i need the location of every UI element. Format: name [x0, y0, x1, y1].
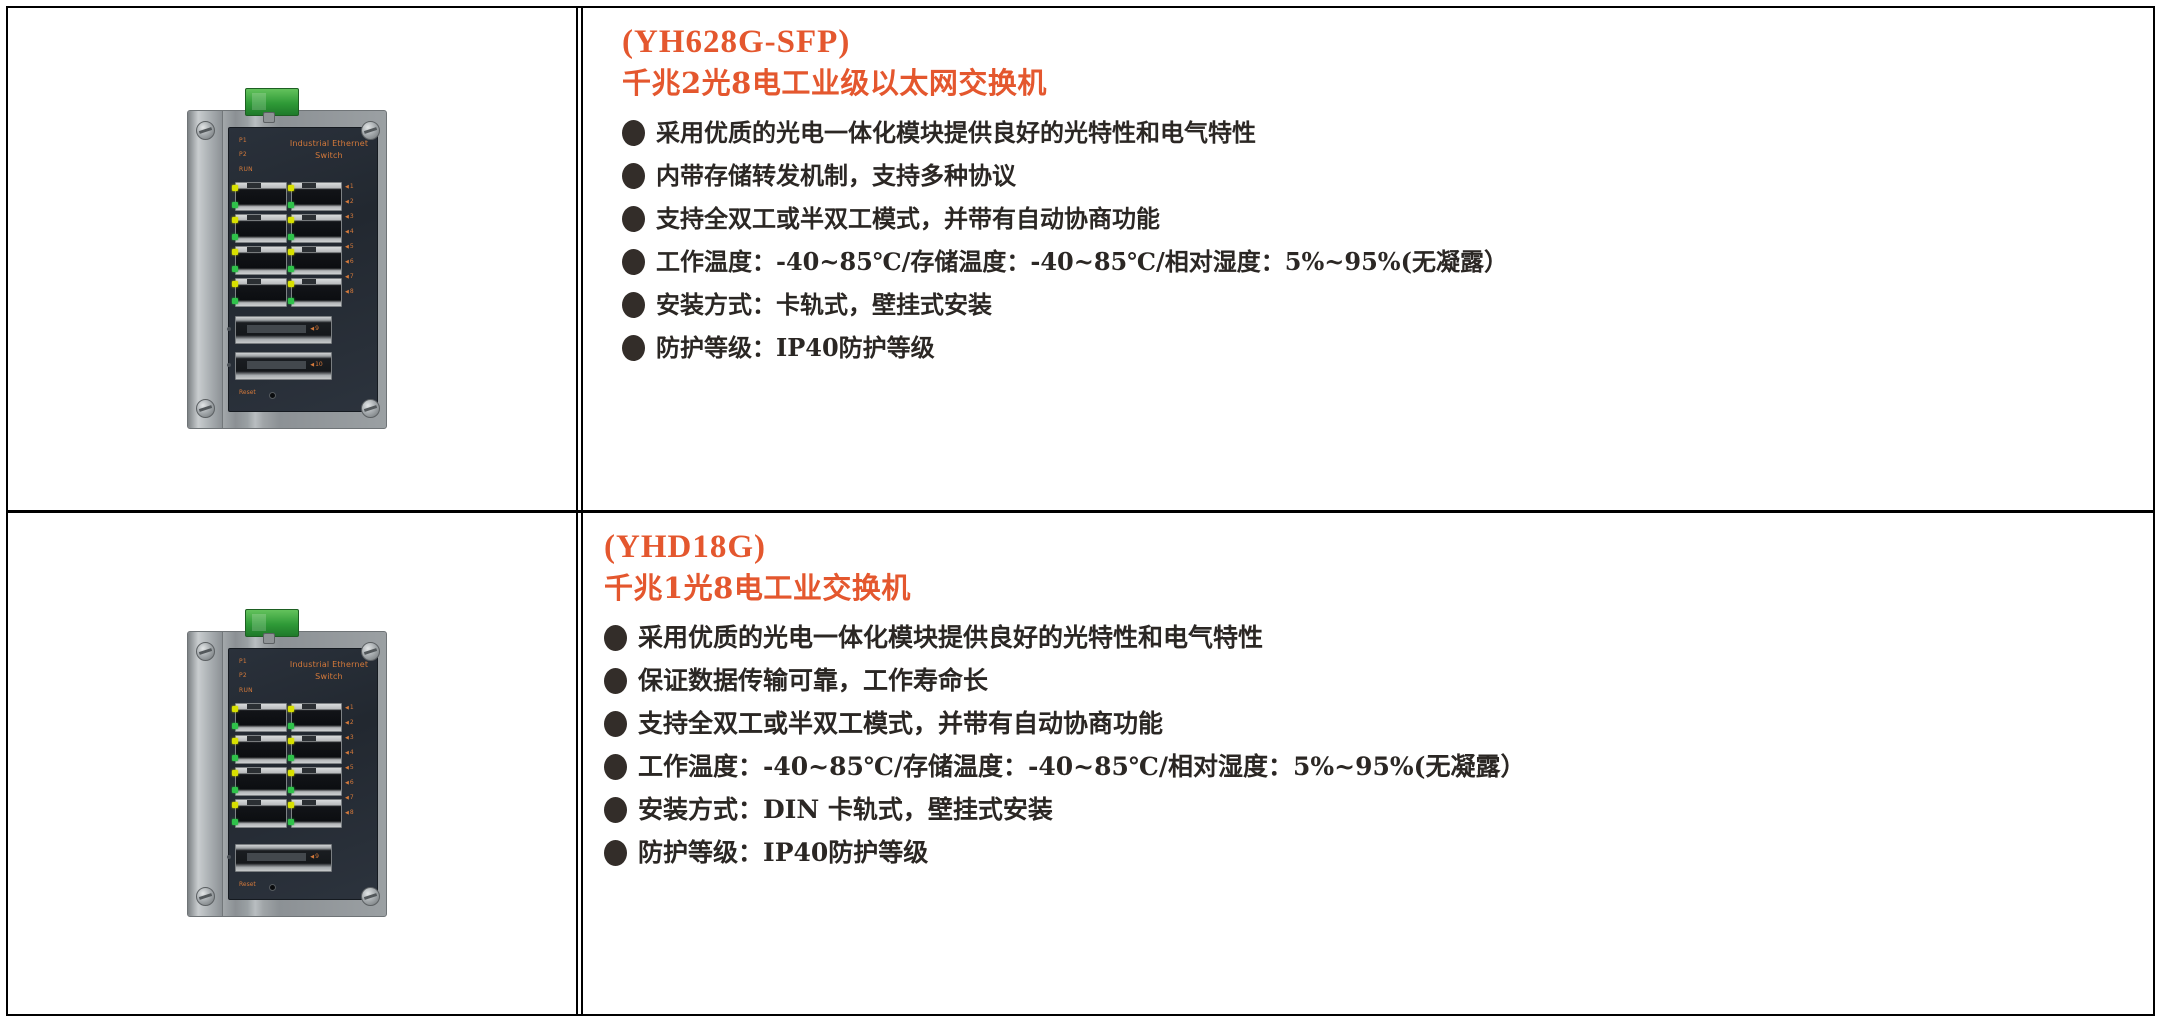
- led-yellow-icon: [288, 802, 294, 808]
- device-photo-yh628g-sfp: P1 P2 RUN Industrial Ethernet Switch: [187, 88, 397, 429]
- led-label-p1: P1: [239, 137, 247, 144]
- reset-area: Reset: [235, 389, 371, 401]
- rj45-port: [291, 799, 343, 828]
- list-item: 工作温度：-40~85℃/存储温度：-40~85℃/相对湿度：5%~95%(无凝…: [622, 247, 2153, 277]
- bullet-icon: [622, 206, 645, 232]
- port-number-label: 5: [345, 764, 354, 771]
- reset-button-hole-icon[interactable]: [269, 392, 276, 399]
- rj45-port: [291, 767, 343, 796]
- sfp-column: 9: [235, 844, 371, 880]
- led-green-icon: [288, 819, 294, 825]
- spec-text: 工作温度：-40~85℃/存储温度：-40~85℃/相对湿度：5%~95%(无凝…: [656, 247, 1508, 277]
- list-item: 内带存储转发机制，支持多种协议: [622, 161, 2153, 191]
- rj45-port: [235, 703, 287, 732]
- screw-icon: [361, 887, 380, 906]
- rj45-port: [291, 214, 343, 243]
- port-number-label: 1: [345, 183, 354, 190]
- led-yellow-icon: [288, 738, 294, 744]
- bullet-icon: [622, 292, 645, 318]
- sfp-led-icon: [227, 363, 231, 367]
- screw-icon: [361, 399, 380, 418]
- reset-button-hole-icon[interactable]: [269, 884, 276, 891]
- sfp-port: 9: [235, 844, 332, 872]
- rj45-port-block: 1 2 3 4 5 6 7 8: [235, 182, 371, 307]
- spec-text: 安装方式：DIN 卡轨式，壁挂式安装: [638, 795, 1053, 825]
- rj45-port: [235, 182, 287, 211]
- product-spec-sheet: P1 P2 RUN Industrial Ethernet Switch: [0, 0, 2161, 1022]
- led-yellow-icon: [232, 217, 238, 223]
- led-label-run: RUN: [239, 166, 253, 173]
- status-led-area: P1 P2 RUN Industrial Ethernet Switch: [235, 136, 371, 182]
- brand-silkscreen: Industrial Ethernet Switch: [269, 659, 389, 683]
- spec-text: 防护等级：IP40防护等级: [656, 333, 935, 363]
- spec-list: 采用优质的光电一体化模块提供良好的光特性和电气特性 内带存储转发机制，支持多种协…: [622, 118, 2153, 363]
- reset-area: Reset: [235, 881, 371, 893]
- sfp-port-block: 9 10: [235, 316, 371, 388]
- spec-text: 支持全双工或半双工模式，并带有自动协商功能: [656, 204, 1160, 234]
- sfp-port-number-label: 10: [310, 361, 323, 368]
- sfp-column: 9 10: [235, 316, 371, 388]
- screw-icon: [196, 887, 215, 906]
- list-item: 安装方式：DIN 卡轨式，壁挂式安装: [604, 795, 2153, 825]
- status-led-area: P1 P2 RUN Industrial Ethernet Switch: [235, 657, 371, 703]
- led-green-icon: [232, 723, 238, 729]
- product-model-code: (YHD18G): [604, 527, 2153, 567]
- table-row: P1 P2 RUN Industrial Ethernet Switch: [8, 510, 2153, 1015]
- rj45-port-number-column: 1 2 3 4 5 6 7 8: [345, 703, 371, 828]
- rj45-port: [291, 278, 343, 307]
- rj45-port: [235, 246, 287, 275]
- led-yellow-icon: [288, 249, 294, 255]
- port-number-label: 7: [345, 794, 354, 801]
- led-green-icon: [232, 234, 238, 240]
- port-number-label: 4: [345, 228, 354, 235]
- port-number-label: 3: [345, 213, 354, 220]
- spec-text: 保证数据传输可靠，工作寿命长: [638, 666, 988, 696]
- sfp-port-block: 9: [235, 844, 371, 880]
- brand-line-2: Switch: [315, 672, 343, 681]
- rj45-port: [291, 246, 343, 275]
- list-item: 工作温度：-40~85℃/存储温度：-40~85℃/相对湿度：5%~95%(无凝…: [604, 752, 2153, 782]
- led-label-run: RUN: [239, 687, 253, 694]
- spec-text: 内带存储转发机制，支持多种协议: [656, 161, 1016, 191]
- bullet-icon: [604, 625, 627, 651]
- product-image-cell: P1 P2 RUN Industrial Ethernet Switch: [8, 513, 578, 1015]
- rj45-port-grid: [235, 182, 342, 307]
- product-table: P1 P2 RUN Industrial Ethernet Switch: [6, 6, 2155, 1016]
- spec-text: 安装方式：卡轨式，壁挂式安装: [656, 290, 992, 320]
- device-chassis: P1 P2 RUN Industrial Ethernet Switch: [187, 631, 387, 917]
- terminal-pin: [263, 633, 275, 644]
- bullet-icon: [622, 249, 645, 275]
- reset-label: Reset: [239, 389, 256, 396]
- bullet-icon: [604, 797, 627, 823]
- led-yellow-icon: [288, 217, 294, 223]
- bullet-icon: [604, 668, 627, 694]
- rj45-port: [235, 767, 287, 796]
- bullet-icon: [622, 120, 645, 146]
- port-number-label: 5: [345, 243, 354, 250]
- led-yellow-icon: [232, 185, 238, 191]
- list-item: 采用优质的光电一体化模块提供良好的光特性和电气特性: [604, 623, 2153, 653]
- led-yellow-icon: [288, 706, 294, 712]
- bullet-icon: [604, 754, 627, 780]
- device-front-panel: P1 P2 RUN Industrial Ethernet Switch: [228, 648, 378, 900]
- port-number-label: 7: [345, 273, 354, 280]
- terminal-pin: [263, 112, 275, 123]
- rj45-port-number-column: 1 2 3 4 5 6 7 8: [345, 182, 371, 307]
- list-item: 支持全双工或半双工模式，并带有自动协商功能: [622, 204, 2153, 234]
- port-number-label: 8: [345, 288, 354, 295]
- list-item: 支持全双工或半双工模式，并带有自动协商功能: [604, 709, 2153, 739]
- device-chassis: P1 P2 RUN Industrial Ethernet Switch: [187, 110, 387, 429]
- device-front-panel: P1 P2 RUN Industrial Ethernet Switch: [228, 127, 378, 412]
- bullet-icon: [604, 840, 627, 866]
- led-green-icon: [288, 298, 294, 304]
- sfp-port: 10: [235, 352, 332, 380]
- screw-icon: [196, 399, 215, 418]
- product-title-cn: 千兆1光8电工业交换机: [604, 569, 2153, 607]
- port-number-label: 2: [345, 198, 354, 205]
- led-label-p2: P2: [239, 151, 247, 158]
- list-item: 防护等级：IP40防护等级: [604, 838, 2153, 868]
- port-number-label: 6: [345, 779, 354, 786]
- brand-line-1: Industrial Ethernet: [290, 139, 368, 148]
- led-label-p1: P1: [239, 658, 247, 665]
- led-yellow-icon: [288, 281, 294, 287]
- sfp-port: 9: [235, 316, 332, 344]
- rj45-port: [235, 278, 287, 307]
- sfp-port-number-label: 9: [310, 325, 319, 332]
- led-green-icon: [232, 787, 238, 793]
- bullet-icon: [622, 335, 645, 361]
- spec-text: 支持全双工或半双工模式，并带有自动协商功能: [638, 709, 1163, 739]
- product-spec-cell: (YHD18G) 千兆1光8电工业交换机 采用优质的光电一体化模块提供良好的光特…: [578, 513, 2153, 1015]
- list-item: 安装方式：卡轨式，壁挂式安装: [622, 290, 2153, 320]
- led-green-icon: [232, 266, 238, 272]
- screw-icon: [196, 642, 215, 661]
- list-item: 保证数据传输可靠，工作寿命长: [604, 666, 2153, 696]
- port-number-label: 3: [345, 734, 354, 741]
- led-yellow-icon: [288, 770, 294, 776]
- led-green-icon: [288, 755, 294, 761]
- sfp-led-icon: [227, 855, 231, 859]
- port-number-label: 8: [345, 809, 354, 816]
- led-green-icon: [232, 819, 238, 825]
- led-green-icon: [288, 787, 294, 793]
- bullet-icon: [604, 711, 627, 737]
- spec-text: 防护等级：IP40防护等级: [638, 838, 928, 868]
- rj45-port: [235, 214, 287, 243]
- brand-silkscreen: Industrial Ethernet Switch: [269, 138, 389, 162]
- led-green-icon: [232, 755, 238, 761]
- product-spec-cell: (YH628G-SFP) 千兆2光8电工业级以太网交换机 采用优质的光电一体化模…: [578, 8, 2153, 510]
- rj45-port: [291, 182, 343, 211]
- led-yellow-icon: [232, 802, 238, 808]
- product-model-code: (YH628G-SFP): [622, 22, 2153, 62]
- rj45-port: [291, 735, 343, 764]
- spec-text: 采用优质的光电一体化模块提供良好的光特性和电气特性: [638, 623, 1263, 653]
- reset-label: Reset: [239, 881, 256, 888]
- led-yellow-icon: [232, 770, 238, 776]
- spec-text: 工作温度：-40~85℃/存储温度：-40~85℃/相对湿度：5%~95%(无凝…: [638, 752, 1525, 782]
- port-number-label: 4: [345, 749, 354, 756]
- led-green-icon: [232, 298, 238, 304]
- rj45-port-block: 1 2 3 4 5 6 7 8: [235, 703, 371, 828]
- device-photo-yhd18g: P1 P2 RUN Industrial Ethernet Switch: [187, 609, 397, 917]
- spec-text: 采用优质的光电一体化模块提供良好的光特性和电气特性: [656, 118, 1256, 148]
- port-number-label: 2: [345, 719, 354, 726]
- brand-line-1: Industrial Ethernet: [290, 660, 368, 669]
- product-image-cell: P1 P2 RUN Industrial Ethernet Switch: [8, 8, 578, 510]
- led-green-icon: [288, 202, 294, 208]
- led-yellow-icon: [232, 738, 238, 744]
- led-label-p2: P2: [239, 672, 247, 679]
- port-number-label: 6: [345, 258, 354, 265]
- rj45-port-grid: [235, 703, 342, 828]
- rj45-port: [235, 799, 287, 828]
- led-yellow-icon: [232, 249, 238, 255]
- spec-list: 采用优质的光电一体化模块提供良好的光特性和电气特性 保证数据传输可靠，工作寿命长…: [604, 623, 2153, 868]
- rj45-port: [291, 703, 343, 732]
- brand-line-2: Switch: [315, 151, 343, 160]
- sfp-port-number-label: 9: [310, 853, 319, 860]
- led-green-icon: [232, 202, 238, 208]
- bullet-icon: [622, 163, 645, 189]
- screw-icon: [196, 121, 215, 140]
- port-number-label: 1: [345, 704, 354, 711]
- sfp-led-icon: [227, 327, 231, 331]
- led-green-icon: [288, 234, 294, 240]
- list-item: 防护等级：IP40防护等级: [622, 333, 2153, 363]
- list-item: 采用优质的光电一体化模块提供良好的光特性和电气特性: [622, 118, 2153, 148]
- led-green-icon: [288, 266, 294, 272]
- led-yellow-icon: [232, 706, 238, 712]
- table-row: P1 P2 RUN Industrial Ethernet Switch: [8, 8, 2153, 510]
- led-yellow-icon: [232, 281, 238, 287]
- led-yellow-icon: [288, 185, 294, 191]
- product-title-cn: 千兆2光8电工业级以太网交换机: [622, 64, 2153, 102]
- rj45-port: [235, 735, 287, 764]
- led-green-icon: [288, 723, 294, 729]
